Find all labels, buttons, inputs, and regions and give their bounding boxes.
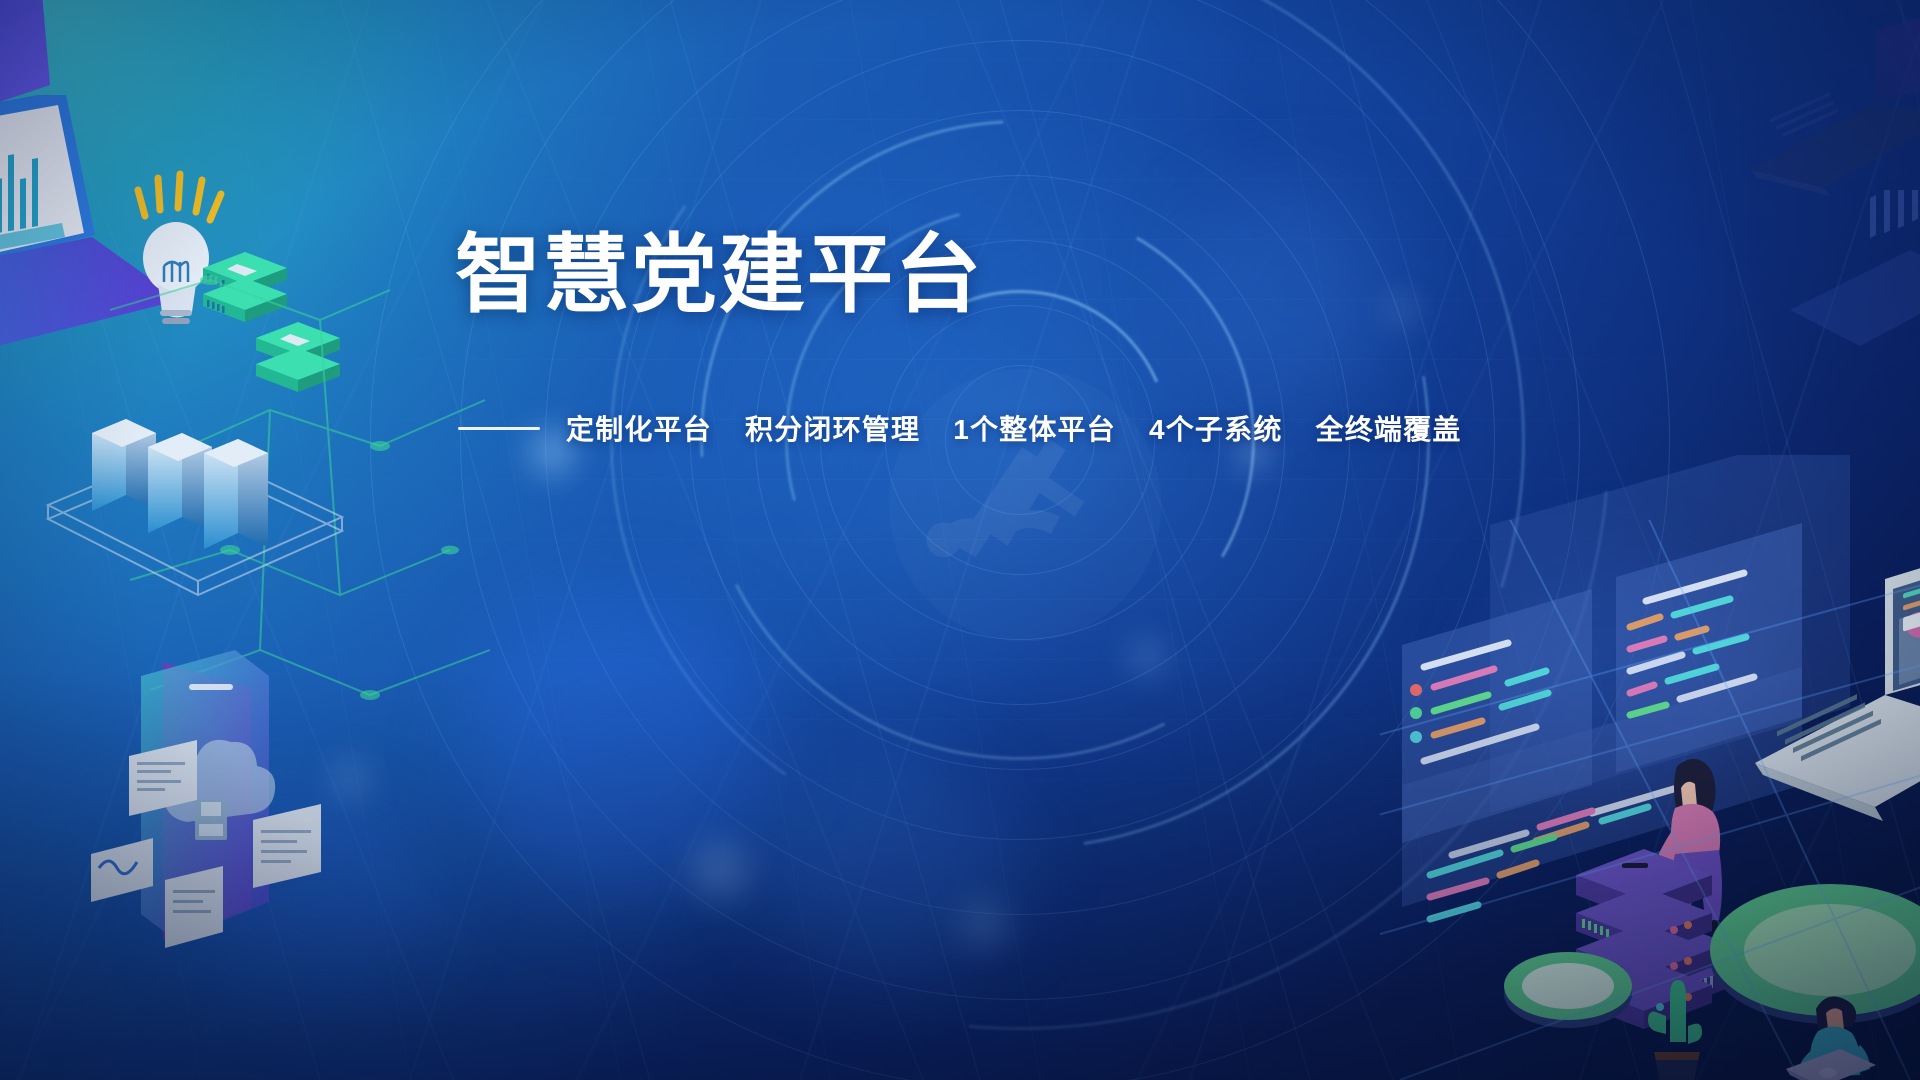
subtitle-item: 定制化平台 [566,414,712,445]
page-title: 智慧党建平台 [455,232,983,318]
subtitle-text: 定制化平台 积分闭环管理 1个整体平台 4个子系统 全终端覆盖 [566,408,1462,448]
hero-banner: 智慧党建平台 定制化平台 积分闭环管理 1个整体平台 4个子系统 全终端覆盖 [0,0,1920,1080]
hero-text-content: 智慧党建平台 定制化平台 积分闭环管理 1个整体平台 4个子系统 全终端覆盖 [0,0,1920,1080]
subtitle-item: 4个子系统 [1149,414,1283,445]
subtitle-item: 积分闭环管理 [745,414,920,445]
subtitle-item: 1个整体平台 [953,414,1116,445]
subtitle-row: 定制化平台 积分闭环管理 1个整体平台 4个子系统 全终端覆盖 [458,408,1462,448]
subtitle-item: 全终端覆盖 [1316,414,1462,445]
subtitle-dash-icon [458,427,540,430]
